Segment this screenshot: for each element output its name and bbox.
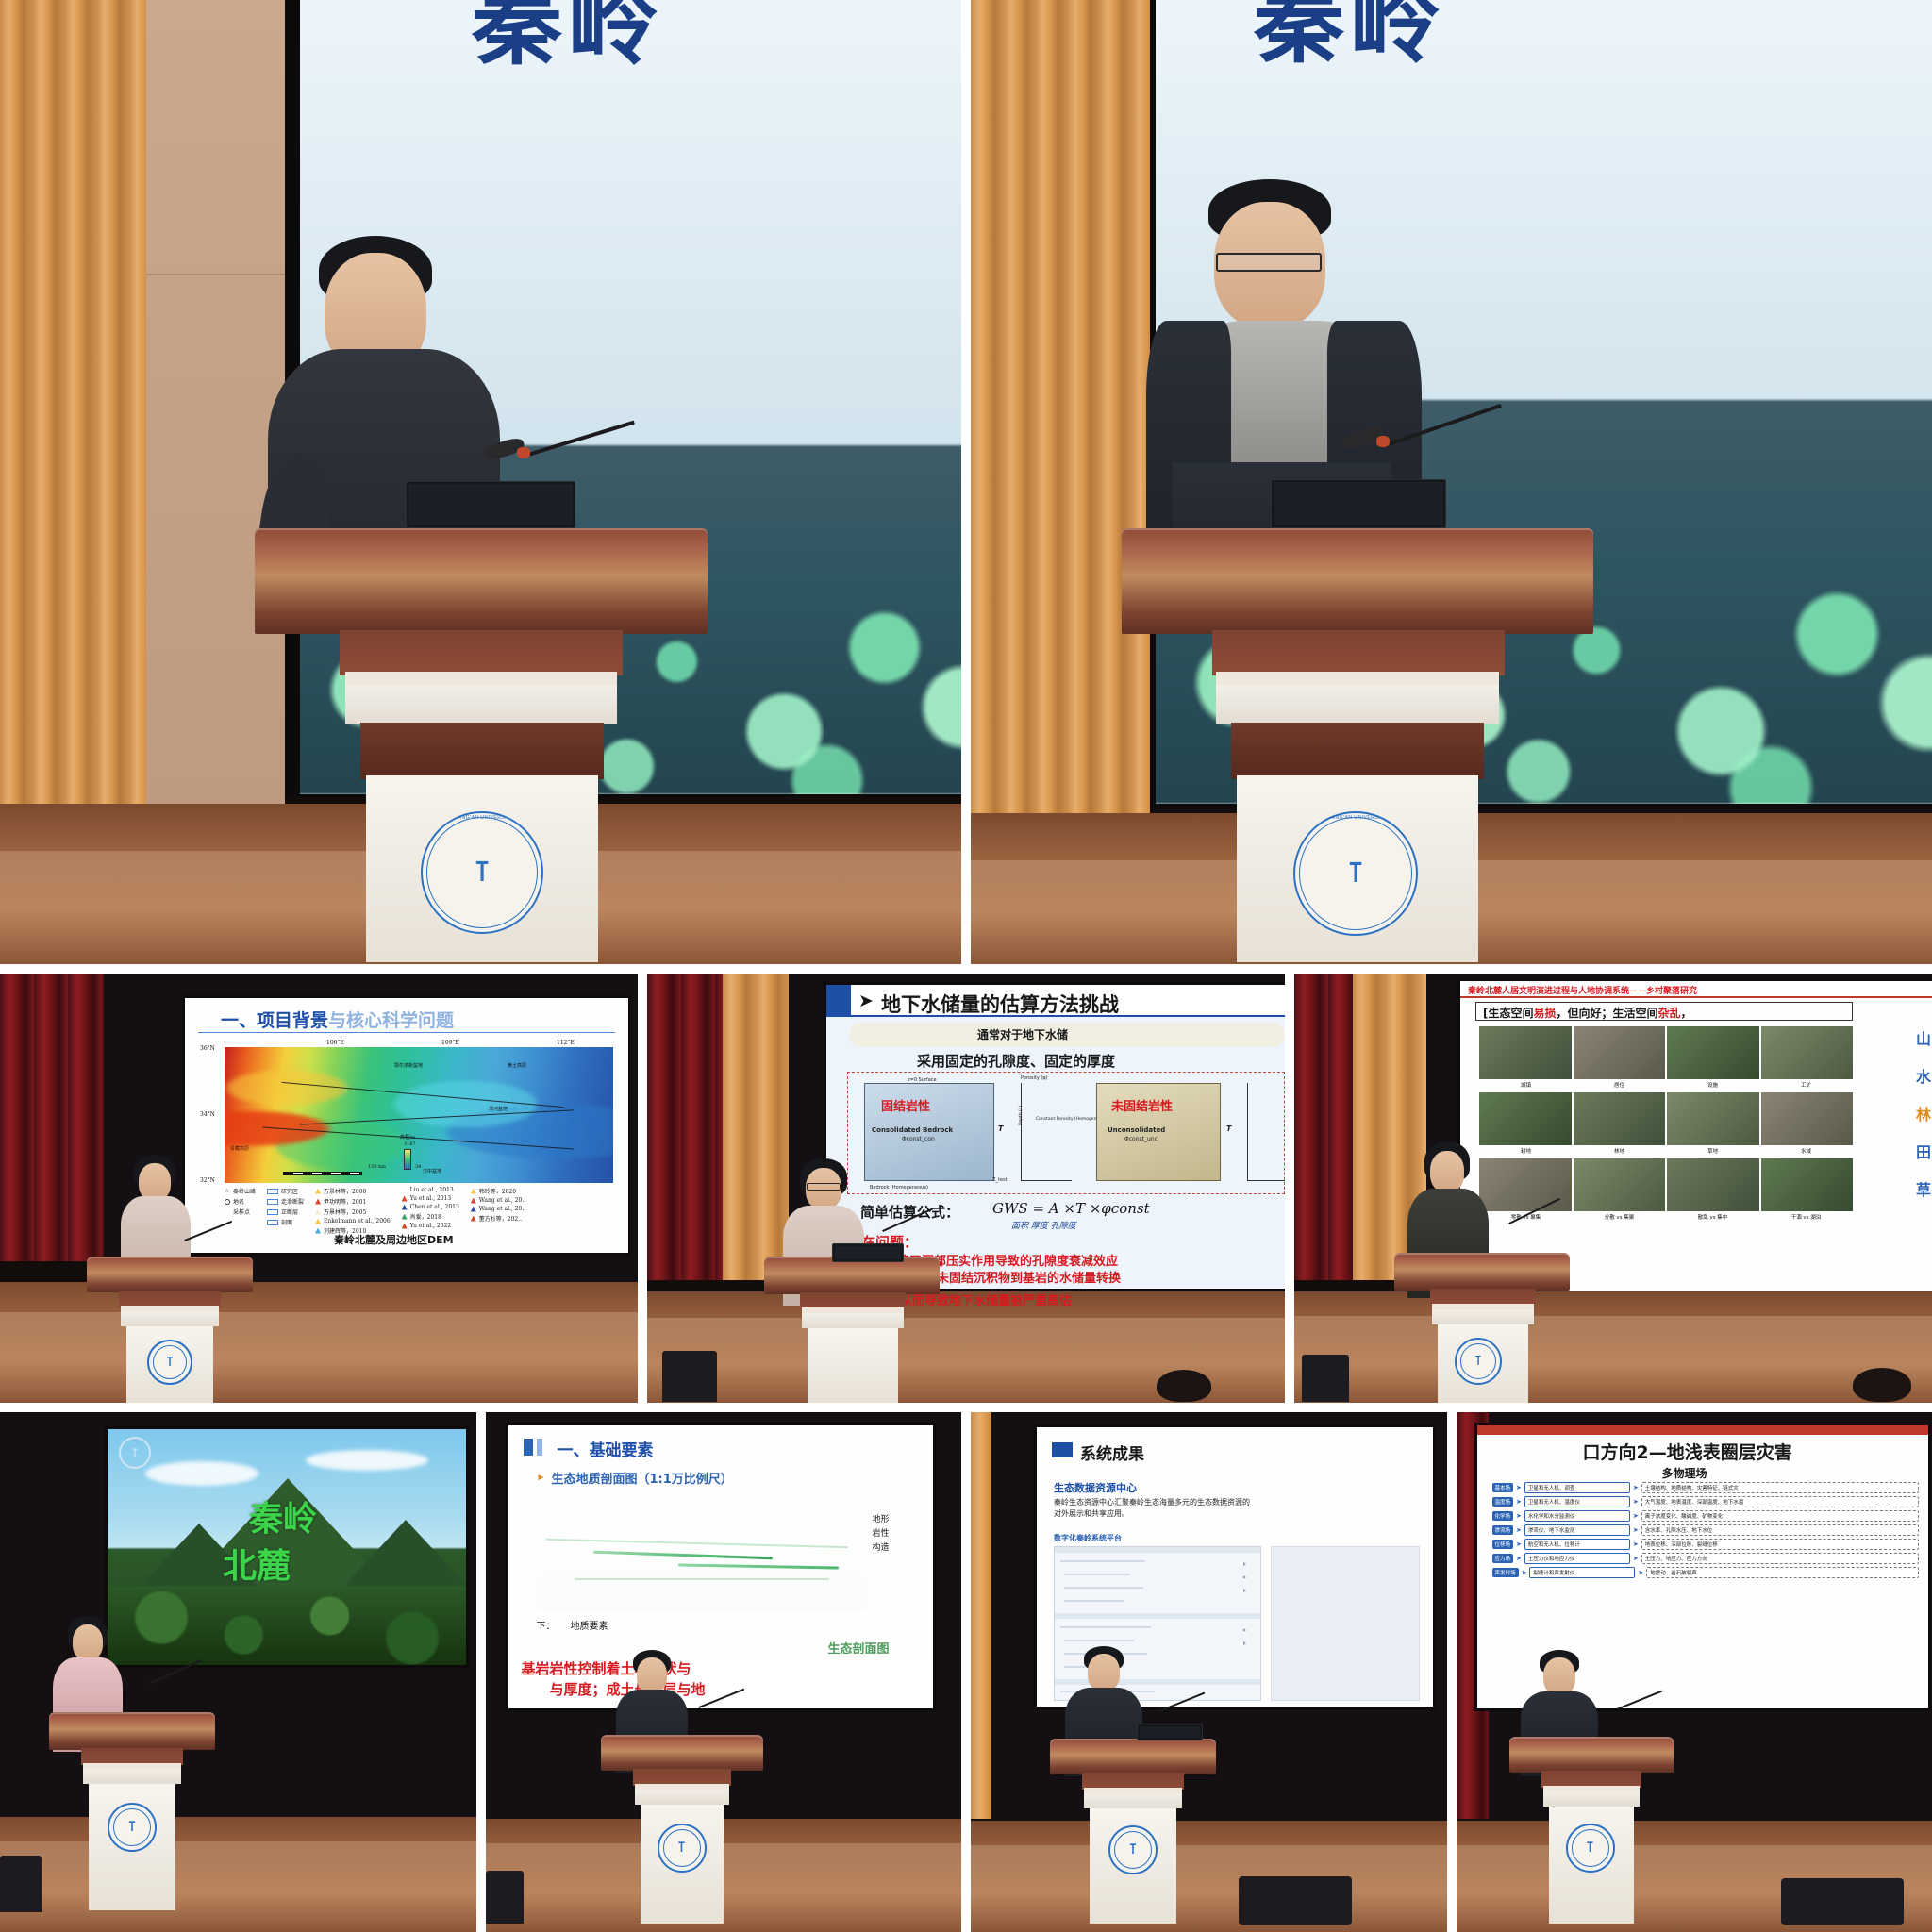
seal-text: CHANG'AN UNIVERSITY [1295,816,1416,821]
legend-label: 研究区 [281,1187,298,1195]
grid-cell [1574,1158,1666,1211]
legend-label: 秦岭山峰 [233,1187,256,1195]
field-output: 含水率、孔隙水压、地下水位 [1641,1524,1919,1536]
legend-item: 肖爱，2018 [402,1212,459,1221]
satellite-photo-grid-3 [1479,1158,1853,1211]
label-left: 下： [537,1618,556,1632]
photo-3: 一、项目背景与核心科学问题 36°N 34°N 32°N 106°E 109°E… [0,974,638,1403]
arrow-right-icon: ➤ [1633,1556,1639,1562]
arrow-right-icon: ➤ [1633,1541,1639,1548]
legend-item: Yu et al., 2013 [402,1195,459,1202]
box-left-cn: 固结岩性 [881,1096,930,1114]
grid-label: 林地 [1573,1147,1666,1155]
field-instrument: 航空和无人机、位移计 [1524,1539,1630,1550]
projection-screen: ⊺ 秦岭 北麓 [108,1429,466,1665]
grid-cell [1479,1026,1572,1079]
university-seal: ⊺ [1566,1824,1615,1873]
lectern: ⊺ [1509,1737,1674,1924]
slide-line-1: 通常对于地下水储 [977,1026,1068,1042]
icon-water: 水 [1904,1064,1932,1087]
platform-label: 数字化秦岭系统平台 [1054,1533,1122,1543]
subtitle-c: ， [1681,1007,1692,1020]
box-left-en: Consolidated Bedrock [872,1126,953,1134]
slide-banner-text: 秦岭 [1254,0,1446,80]
slide-banner-text: 秦岭 [472,0,664,82]
subtitle-a: [生态空间 [1483,1007,1534,1020]
photo-5: 秦岭北麓人居文明演进过程与人地协调系统——乡村聚落研究 [生态空间易损，但向好；… [1294,974,1932,1403]
legend-label: Wang et al., 20.. [479,1197,525,1204]
legend-label: Liu et al., 2013 [410,1187,454,1193]
map-x-tick-0: 106°E [326,1040,344,1046]
legend-label: 正断层 [281,1207,298,1216]
legend-item: Yu et al., 2022 [402,1223,459,1229]
lectern: CHANG'AN UNIVERSITY ⊺ [1122,528,1593,962]
legend-label: 万景林等，2000 [324,1187,366,1195]
field-instrument: 裂缝计和声发射仪 [1529,1567,1635,1578]
cross-section-figure [537,1497,867,1610]
field-output: 土壤结构、地质结构、灾害特征、链式灾 [1641,1482,1919,1493]
slide-title-light: 与核心科学问题 [328,1010,454,1031]
laptop [406,481,575,528]
legend-item: 剖面 [267,1218,304,1226]
legend-item: 采样点 [225,1207,256,1216]
slide-subtitle: 多物理场 [1662,1465,1707,1481]
stage-curtain-dark [1294,974,1360,1280]
legend-item: 正断层 [267,1207,304,1216]
grid-label: 设施 [1666,1081,1759,1089]
slide-line-2: 采用固定的孔隙度、固定的厚度 [917,1051,1115,1071]
diagram-label-6: Depth (z) [1019,1106,1024,1125]
slide-body: 秦岭生态资源中心汇聚秦岭生态海量多元的生态数据资源的对外展示和共享应用。 [1054,1497,1252,1520]
formula-terms: 面积 厚度 孔隙度 [1011,1219,1076,1231]
university-seal: CHANG'AN UNIVERSITY ⊺ [421,811,543,934]
field-instrument: 渗流仪、地下水监测 [1524,1524,1630,1536]
formula: GWS = A ×T ×φconst [992,1200,1150,1217]
legend-refs-2: Liu et al., 2013 Yu et al., 2013 Chen et… [402,1187,459,1235]
field-name: 应力场 [1492,1554,1514,1563]
photo-collage: 秦岭 [0,0,1932,1932]
slide-subtitle: [生态空间易损，但向好；生活空间杂乱， [1483,1005,1692,1021]
slide-title-mark: 一、 [558,1441,590,1460]
title-rule [198,1032,615,1033]
grid-cell [1761,1158,1854,1211]
university-seal: ⊺ [1108,1825,1158,1874]
subtitle-b: ，但向好；生活空间 [1557,1007,1658,1020]
grid-cell [1479,1092,1572,1145]
slide-title: 地下水储量的估算方法挑战 [881,990,1119,1018]
photo-8: 系统成果 生态数据资源中心 秦岭生态资源中心汇聚秦岭生态海量多元的生态数据资源的… [971,1412,1447,1932]
diagram-label-0: z=0 Surface [908,1077,937,1083]
microphone-tip [1376,436,1390,447]
stage-curtain-dark [647,974,728,1280]
arrow-right-icon: ➤ [1516,1556,1522,1562]
element-icon-column: 山 水 林 田 草 [1904,1026,1932,1200]
legend-item: Enkelmann et al., 2006 [315,1218,391,1224]
legend-item: 韩玲等，2020 [471,1187,525,1195]
field-output: 土压力、地应力、应力方向 [1641,1553,1919,1564]
diagram-legend-bedrock: Bedrock (Homogeneous) [870,1185,928,1191]
legend-label: 万景林等，2005 [324,1207,366,1216]
arrow-right-icon: ➤ [1638,1570,1643,1576]
field-output: 地表位移、深部位移、裂缝位移 [1641,1539,1919,1550]
flow-row: 声发射场 ➤ 裂缝计和声发射仪 ➤ 地震动、岩石破裂声 [1492,1567,1919,1578]
grid-label: 草地 [1666,1147,1759,1155]
map-y-tick-0: 36°N [200,1045,215,1052]
arrow-right-icon: ➤ [1633,1513,1639,1520]
chair-back [1239,1876,1352,1925]
lectern: ⊺ [1050,1739,1216,1924]
field-name: 基本场 [1492,1483,1514,1492]
flow-row: 渗流场 ➤ 渗流仪、地下水监测 ➤ 含水率、孔隙水压、地下水位 [1492,1524,1919,1536]
grid-label: 城镇 [1479,1081,1573,1089]
slide-section: 生态数据资源中心 [1054,1480,1137,1495]
arrow-right-icon: ➤ [1516,1527,1522,1534]
field-name: 位移场 [1492,1540,1514,1549]
legend-item: 走滑断裂 [267,1197,304,1206]
audience-head [1157,1370,1211,1402]
arrow-right-icon: ➤ [1522,1570,1527,1576]
chair-back [1302,1355,1349,1402]
legend-item: Wang et al., 20.. [471,1206,525,1212]
label-geo: 地质要素 [571,1618,608,1632]
grid-cell [1667,1026,1759,1079]
legend-symbols: ☆秦岭山峰 地名 采样点 [225,1187,256,1235]
satellite-photo-grid-2 [1479,1092,1853,1145]
icon-mountain: 山 [1904,1026,1932,1049]
slide-title-text: 基础要素 [590,1441,654,1460]
field-name: 渗流场 [1492,1525,1514,1535]
legend-label: 董方杉等，202.. [479,1214,522,1223]
grid-label: 居住 [1573,1081,1666,1089]
laptop [1137,1724,1203,1740]
legend-item: 地名 [225,1197,256,1206]
map-x-tick-1: 109°E [441,1040,459,1046]
slide-title-bold: 一、项目背景 [221,1010,328,1031]
stage-curtain-dark [0,974,113,1261]
grid-cell [1667,1158,1759,1211]
flow-row: 温度场 ➤ 卫星和无人机、温度仪 ➤ 大气温度、地表温度、深部温度、地下水温 [1492,1496,1919,1507]
laptop [1271,479,1446,528]
colorbar-title: 高程/m [400,1134,415,1141]
slide-content: ⊺ 秦岭 北麓 [108,1429,466,1665]
chair-back [662,1351,717,1402]
map-x-tick-2: 112°E [557,1040,575,1046]
figure-right-labels: 地形 岩性 构造 [873,1512,920,1553]
field-name: 温度场 [1492,1497,1514,1507]
slide-title: 口方向2—地浅表圈层灾害 [1583,1439,1792,1464]
flow-row: 位移场 ➤ 航空和无人机、位移计 ➤ 地表位移、深部位移、裂缝位移 [1492,1539,1919,1550]
legend-item: Liu et al., 2013 [402,1187,459,1193]
system-ui-preview [1271,1546,1420,1701]
arrow-right-icon: ➤ [1516,1499,1522,1506]
map-label-0: 鄂尔多斯盆地 [394,1062,423,1069]
projection-screen: 一、项目背景与核心科学问题 36°N 34°N 32°N 106°E 109°E… [185,998,628,1253]
diagram-label-T2: T [1226,1124,1231,1133]
legend-item: 万景林等，2005 [315,1207,391,1216]
grid-cell [1574,1026,1666,1079]
legend-label: Enkelmann et al., 2006 [324,1218,391,1224]
map-legend: ☆秦岭山峰 地名 采样点 研究区 走滑断裂 正断层 剖面 万景林等，2000 [225,1187,525,1235]
field-name: 化学场 [1492,1511,1514,1521]
grid-label: 水域 [1759,1147,1853,1155]
field-output: 大气温度、地表温度、深部温度、地下水温 [1641,1496,1919,1507]
grid-cell [1667,1092,1759,1145]
university-seal: CHANG'AN UNIVERSITY ⊺ [1293,811,1418,936]
legend-label: Wang et al., 20.. [479,1206,525,1212]
legend-item: 万景林等，2000 [315,1187,391,1195]
slide-content: 一、基础要素 ► 生态地质剖面图（1:1万比例尺） 地形 岩性 构造 [508,1425,933,1708]
field-instrument: 卫星和无人机、温度仪 [1524,1496,1630,1507]
flow-row: 化学场 ➤ 水化学和水分监测仪 ➤ 离子浓度变化、酸碱度、矿物变化 [1492,1510,1919,1522]
legend-label: Chen et al., 2013 [410,1204,459,1210]
stage-curtain [971,1412,991,1819]
field-instrument: 卫星和无人机、调查 [1524,1482,1630,1493]
legend-item: ☆秦岭山峰 [225,1187,256,1195]
legend-item: 尹功明等，2001 [315,1197,391,1206]
photo-9: 口方向2—地浅表圈层灾害 多物理场 基本场 ➤ 卫星和无人机、调查 ➤ 土壤结构… [1457,1412,1932,1932]
box-right-sym: Φconst_unc [1124,1136,1158,1142]
slide-title: 一、项目背景与核心科学问题 [221,1007,454,1032]
arrow-right-icon: ➤ [1633,1499,1639,1506]
lectern: ⊺ [1394,1253,1570,1403]
field-instrument: 土压力仪和地应力仪 [1524,1553,1630,1564]
lectern: ⊺ [87,1257,253,1403]
audience-head [1853,1368,1911,1402]
grid-label: 干涸 vs 湖泊 [1759,1213,1853,1221]
legend-item: Chen et al., 2013 [402,1204,459,1210]
laptop [832,1243,904,1262]
box-right-en: Unconsolidated [1108,1126,1165,1134]
university-seal: ⊺ [147,1340,192,1385]
legend-label: Yu et al., 2013 [410,1195,452,1202]
slide-bullet: 生态地质剖面图（1:1万比例尺） [552,1469,733,1487]
slide-title: 秦岭北麓人居文明演进过程与人地协调系统——乡村聚落研究 [1468,984,1697,996]
diagram-label-3: Porosity (φ) [1021,1075,1048,1081]
lectern: ⊺ [49,1712,215,1910]
chair-back [486,1871,524,1924]
slide-title-cn: 秦岭 [249,1491,317,1541]
icon-grass: 草 [1904,1177,1932,1200]
microphone-tip [517,447,530,458]
arrow-right-icon: ➤ [1633,1527,1639,1534]
grid-label: 分散 vs 集聚 [1573,1213,1666,1221]
colorbar-min: 34 [415,1164,421,1170]
legend-label: Yu et al., 2022 [410,1223,452,1229]
slide-content: 秦岭北麓人居文明演进过程与人地协调系统——乡村聚落研究 [生态空间易损，但向好；… [1460,981,1932,1291]
icon-forest: 林 [1904,1102,1932,1124]
flow-row: 基本场 ➤ 卫星和无人机、调查 ➤ 土壤结构、地质结构、灾害特征、链式灾 [1492,1482,1919,1493]
legend-label: 采样点 [233,1207,250,1216]
collage-row-2: 一、项目背景与核心科学问题 36°N 34°N 32°N 106°E 109°E… [0,974,1932,1403]
legend-label: 肖爱，2018 [410,1212,441,1221]
legend-label: 韩玲等，2020 [479,1187,516,1195]
grid-cell [1761,1026,1854,1079]
lectern: CHANG'AN UNIVERSITY ⊺ [255,528,708,962]
diagram-label-2: Z_test [992,1177,1008,1183]
field-name: 声发射场 [1492,1568,1519,1577]
label-structure: 构造 [873,1541,920,1553]
lectern [764,1257,940,1403]
legend-refs-3: 韩玲等，2020 Wang et al., 20.. Wang et al., … [471,1187,525,1235]
photo-4: ➤ 地下水储量的估算方法挑战 通常对于地下水储 采用固定的孔隙度、固定的厚度 z… [647,974,1285,1403]
label-topography: 地形 [873,1512,920,1524]
collage-row-1: 秦岭 [0,0,1932,964]
university-seal: ⊺ [658,1824,707,1873]
legend-item: 董方杉等，202.. [471,1214,525,1223]
grid-cell [1761,1092,1854,1145]
map-label-3: 青藏高原 [230,1145,249,1152]
subtitle-em-1: 易损 [1534,1007,1557,1020]
grid-cell [1574,1092,1666,1145]
arrow-right-icon: ➤ [1516,1485,1522,1491]
photo-1: 秦岭 [0,0,961,964]
flow-row: 应力场 ➤ 土压力仪和地应力仪 ➤ 土压力、地应力、应力方向 [1492,1553,1919,1564]
arrow-right-icon: ➤ [1633,1485,1639,1491]
legend-label: 地名 [233,1197,244,1206]
grid-label: 工矿 [1759,1081,1853,1089]
projection-screen: 秦岭北麓人居文明演进过程与人地协调系统——乡村聚落研究 [生态空间易损，但向好；… [1460,981,1932,1291]
slide-title-cn2: 北麓 [223,1539,291,1588]
map-label-2: 渭河盆地 [489,1106,508,1112]
stage-curtain [0,0,146,832]
box-left-sym: Φconst_con [902,1136,935,1142]
legend-item: 研究区 [267,1187,304,1195]
slide-title: 系统成果 [1080,1441,1144,1464]
photo-6: ⊺ 秦岭 北麓 ⊺ [0,1412,476,1932]
legend-label: 剖面 [281,1218,292,1226]
photo-7: 一、基础要素 ► 生态地质剖面图（1:1万比例尺） 地形 岩性 构造 [486,1412,962,1932]
map-y-tick-2: 32°N [200,1177,215,1184]
projection-screen: 一、基础要素 ► 生态地质剖面图（1:1万比例尺） 地形 岩性 构造 [508,1425,933,1708]
seal-text: CHANG'AN UNIVERSITY [423,816,541,821]
legend-lines: 研究区 走滑断裂 正断层 剖面 [267,1187,304,1235]
slide-title: 一、基础要素 [558,1437,654,1460]
diagram-label-1: T [998,1124,1003,1133]
label-lithology: 岩性 [873,1526,920,1539]
legend-label: 走滑断裂 [281,1197,304,1206]
map-scalebar: 150 km [368,1164,386,1170]
multiphysics-flow-diagram: 基本场 ➤ 卫星和无人机、调查 ➤ 土壤结构、地质结构、灾害特征、链式灾 温度场… [1492,1482,1919,1578]
arrow-right-icon: ➤ [1516,1541,1522,1548]
photo-2: 秦岭 [971,0,1932,964]
map-label-5: 汉中盆地 [423,1168,441,1174]
slide-content: 一、项目背景与核心科学问题 36°N 34°N 32°N 106°E 109°E… [185,998,628,1253]
collage-row-3: ⊺ 秦岭 北麓 ⊺ [0,1412,1932,1932]
field-output: 地震动、岩石破裂声 [1646,1567,1918,1578]
university-seal: ⊺ [108,1803,157,1852]
university-seal: ⊺ [1455,1338,1502,1385]
field-output: 离子浓度变化、酸碱度、矿物变化 [1641,1510,1919,1522]
legend-item: Wang et al., 20.. [471,1197,525,1204]
subtitle-em-2: 杂乱 [1658,1007,1681,1020]
icon-field: 田 [1904,1140,1932,1162]
map-y-tick-1: 34°N [200,1111,215,1118]
satellite-photo-grid [1479,1026,1853,1079]
grid-label: 散乱 vs 集中 [1666,1213,1759,1221]
chair-back [1781,1878,1904,1925]
legend-label: 尹功明等，2001 [324,1197,366,1206]
box-right-cn: 未固结岩性 [1111,1096,1173,1114]
chair-back [0,1856,42,1912]
arrow-right-icon: ➤ [1516,1513,1522,1520]
lectern: ⊺ [601,1735,763,1924]
slide-logo: ⊺ [119,1437,151,1469]
legend-refs-1: 万景林等，2000 尹功明等，2001 万景林等，2005 Enkelmann … [315,1187,391,1235]
dem-map: 鄂尔多斯盆地 黄土高原 渭河盆地 青藏高原 汉中盆地 150 km 高程/m 3… [225,1047,613,1183]
field-instrument: 水化学和水分监测仪 [1524,1510,1630,1522]
colorbar-max: 3167 [404,1141,416,1147]
map-label-1: 黄土高原 [508,1062,526,1069]
slide-caption: 秦岭北麓及周边地区DEM [334,1232,454,1247]
